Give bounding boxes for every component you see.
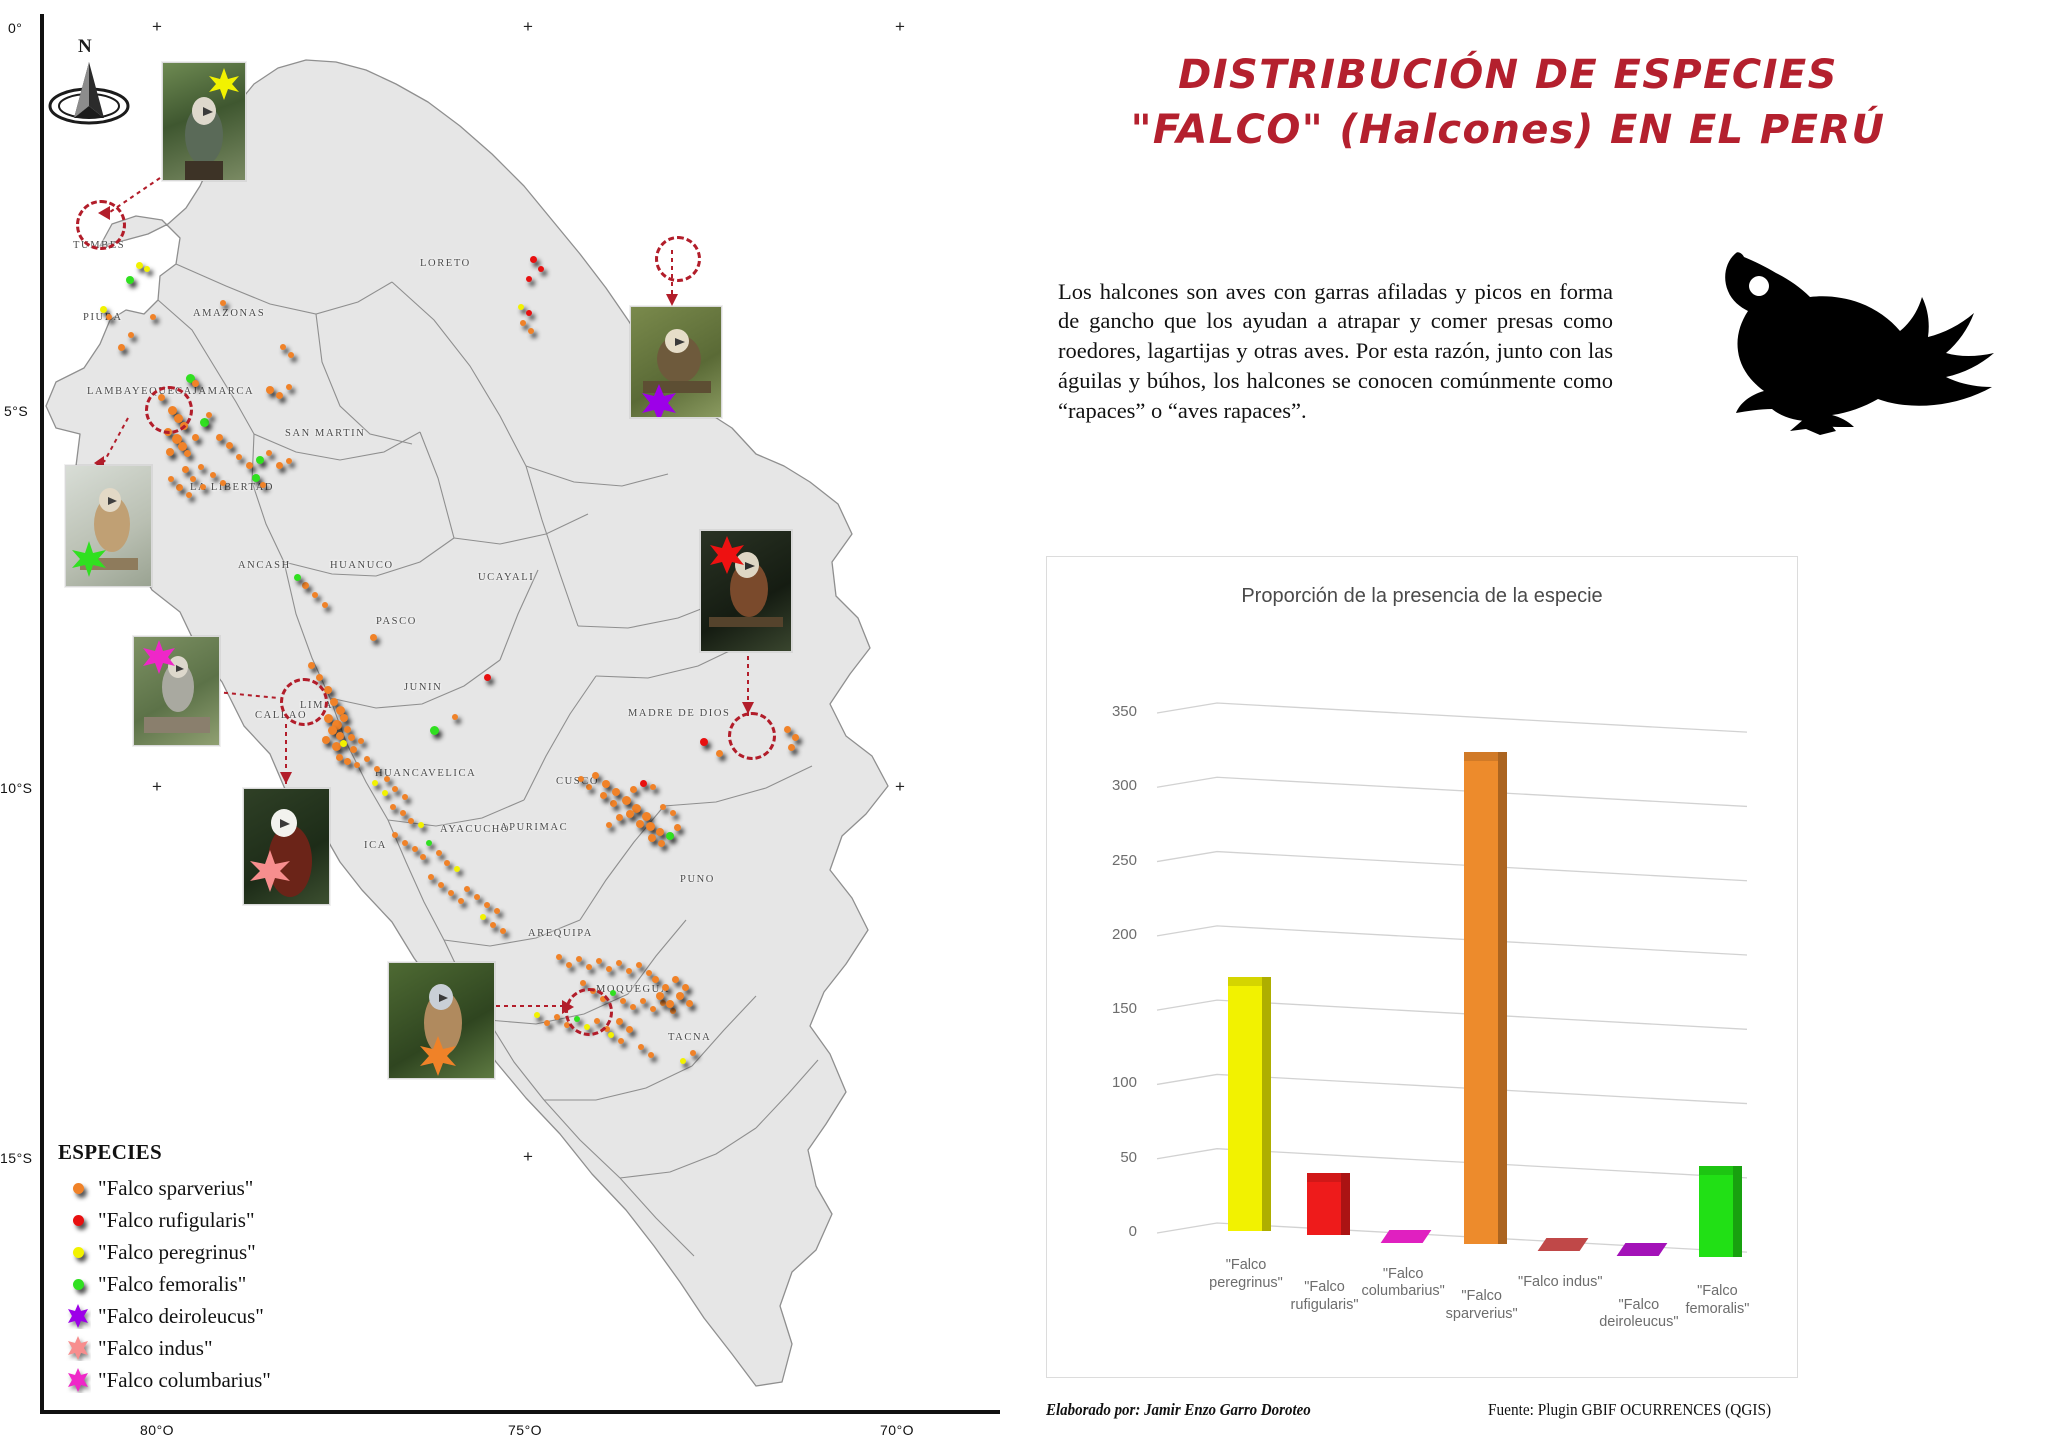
footer-source: Fuente: Plugin GBIF OCURRENCES (QGIS) [1488, 1400, 1771, 1420]
occurrence-dot [336, 754, 343, 761]
legend-dot-icon [73, 1183, 84, 1194]
occurrence-dot [418, 822, 424, 828]
occurrence-dot [576, 956, 582, 962]
occurrence-dot [622, 796, 631, 805]
legend-label-5: "Falco indus" [98, 1336, 213, 1361]
occurrence-dot [444, 860, 450, 866]
occurrence-dot [626, 968, 632, 974]
chart-plot-area: 050100150200250300350"Falco peregrinus""… [1047, 557, 1797, 1377]
legend-heading: ESPECIES [58, 1140, 358, 1165]
occurrence-dot [670, 810, 676, 816]
occurrence-dot [126, 276, 134, 284]
occurrence-dot [616, 814, 623, 821]
occurrence-dot [100, 306, 107, 313]
occurrence-dot [586, 784, 592, 790]
occurrence-dot [534, 1012, 540, 1018]
bar-top [1464, 752, 1498, 761]
occurrence-dot [370, 634, 377, 641]
region-label-tacna: TACNA [668, 1032, 711, 1043]
legend-label-2: "Falco peregrinus" [98, 1240, 256, 1265]
occurrence-dot [408, 818, 414, 824]
occurrence-dot [526, 310, 532, 316]
bar-body [1228, 986, 1262, 1231]
legend-label-3: "Falco femoralis" [98, 1272, 246, 1297]
occurrence-dot [266, 450, 272, 456]
lat-label-3: 15°S [0, 1150, 33, 1166]
photo-falco-rufigularis [700, 530, 792, 652]
occurrence-dot [792, 734, 799, 741]
occurrence-dot [606, 822, 612, 828]
occurrence-dot [190, 476, 196, 482]
occurrence-dot [616, 1018, 623, 1025]
legend-label-1: "Falco rufigularis" [98, 1208, 255, 1233]
occurrence-dot [420, 854, 426, 860]
footer-author: Elaborado por: Jamir Enzo Garro Doroteo [1046, 1400, 1311, 1420]
legend-item-2: "Falco peregrinus" [58, 1236, 358, 1268]
occurrence-dot [620, 998, 626, 1004]
occurrence-dot [716, 750, 723, 757]
legend-item-5: "Falco indus" [58, 1332, 358, 1364]
occurrence-dot [650, 1006, 656, 1012]
page-title: DISTRIBUCIÓN DE ESPECIES "FALCO" (Halcon… [1058, 48, 1958, 158]
occurrence-dot [636, 962, 642, 968]
occurrence-dot [592, 772, 599, 779]
occurrence-dot [312, 592, 318, 598]
occurrence-dot [246, 462, 253, 469]
occurrence-dot [484, 674, 491, 681]
photo-falco-sparverius [65, 465, 152, 587]
legend-label-0: "Falco sparverius" [98, 1176, 253, 1201]
occurrence-dot [340, 740, 347, 747]
region-label-huanuco: HUANUCO [330, 560, 394, 571]
occurrence-dot [438, 882, 444, 888]
region-label-pasco: PASCO [376, 616, 417, 627]
lat-label-2: 10°S [0, 780, 33, 796]
occurrence-dot [236, 454, 242, 460]
occurrence-dot [666, 832, 674, 840]
occurrence-dot [606, 966, 612, 972]
occurrence-dot [210, 472, 216, 478]
legend-item-0: "Falco sparverius" [58, 1172, 358, 1204]
bar-flat-marker [1381, 1230, 1432, 1243]
occurrence-dot [266, 386, 274, 394]
occurrence-dot [372, 780, 378, 786]
species-star-femoralis [70, 540, 108, 583]
occurrence-dot [186, 492, 192, 498]
legend-symbol-6 [58, 1367, 98, 1393]
bar-face [1307, 1182, 1341, 1235]
occurrence-dot [392, 786, 398, 792]
legend-star-icon [65, 1367, 91, 1393]
occurrence-dot [674, 824, 681, 831]
bar-face [1228, 986, 1262, 1231]
highlight-circle-lima [280, 678, 328, 726]
occurrence-dot [322, 736, 330, 744]
legend-dot-icon [73, 1247, 84, 1258]
region-label-puno: PUNO [680, 874, 715, 885]
falcon-silhouette-icon [1678, 225, 2008, 445]
occurrence-dot [656, 828, 664, 836]
occurrence-dot [428, 874, 434, 880]
occurrence-dot [136, 262, 143, 269]
occurrence-dot [260, 482, 266, 488]
species-proportion-chart: Proporción de la presencia de la especie… [1046, 556, 1798, 1378]
occurrence-dot [544, 1020, 550, 1026]
occurrence-dot [280, 344, 286, 350]
legend-star-icon [65, 1335, 91, 1361]
occurrence-dot [200, 484, 206, 490]
occurrence-dot [686, 1000, 693, 1007]
map-panel: 0° 5°S 10°S 15°S 80°O 75°O 70°O + + + + … [0, 0, 1028, 1448]
highlight-circle-lambayeque [145, 386, 193, 434]
occurrence-dot [316, 674, 323, 681]
occurrence-dot [700, 738, 708, 746]
highlight-circle-tumbes [76, 200, 126, 250]
occurrence-dot [166, 448, 174, 456]
occurrence-dot [430, 726, 439, 735]
region-label-madre-de-dios: MADRE DE DIOS [628, 708, 730, 719]
region-label-loreto: LORETO [420, 258, 471, 269]
occurrence-dot [610, 800, 617, 807]
legend-symbol-1 [58, 1215, 98, 1226]
occurrence-dot [452, 714, 458, 720]
photo-falco-peregrinus [162, 62, 246, 181]
occurrence-dot [350, 746, 357, 753]
occurrence-dot [648, 1052, 654, 1058]
occurrence-dot [662, 984, 669, 991]
occurrence-dot [610, 990, 616, 996]
legend-label-4: "Falco deiroleucus" [98, 1304, 264, 1329]
occurrence-dot [106, 314, 112, 320]
highlight-circle-madre-de-dios [728, 712, 776, 760]
region-label-apurimac: APURIMAC [500, 822, 568, 833]
occurrence-dot [464, 886, 470, 892]
occurrence-dot [578, 776, 584, 782]
occurrence-dot [286, 458, 292, 464]
occurrence-dot [302, 582, 309, 589]
bar-side [1262, 977, 1271, 1231]
legend-item-1: "Falco rufigularis" [58, 1204, 358, 1236]
occurrence-dot [658, 840, 665, 847]
occurrence-dot [390, 804, 396, 810]
bar-side [1341, 1173, 1350, 1235]
legend-item-4: "Falco deiroleucus" [58, 1300, 358, 1332]
legend-dot-icon [73, 1279, 84, 1290]
legend-label-6: "Falco columbarius" [98, 1368, 271, 1393]
region-label-san-martin: SAN MARTIN [285, 428, 365, 439]
occurrence-dot [198, 464, 204, 470]
bar-face [1699, 1175, 1733, 1257]
legend-rows: "Falco sparverius""Falco rufigularis""Fa… [58, 1172, 358, 1396]
photo-falco-sparverius-south [388, 962, 495, 1079]
occurrence-dot [672, 976, 679, 983]
occurrence-dot [682, 984, 689, 991]
occurrence-dot [340, 714, 348, 722]
bar-top [1699, 1166, 1733, 1175]
occurrence-dot [426, 840, 432, 846]
occurrence-dot [384, 776, 390, 782]
species-star-columbarius [141, 639, 177, 680]
region-label-piura: PIURA [83, 312, 123, 323]
occurrence-dot [412, 846, 418, 852]
intro-paragraph: Los halcones son aves con garras afilada… [1058, 277, 1613, 427]
occurrence-dot [648, 834, 656, 842]
bar-top [1228, 977, 1262, 986]
occurrence-dot [784, 726, 791, 733]
occurrence-dot [480, 914, 486, 920]
region-label-arequipa: AREQUIPA [528, 928, 593, 939]
occurrence-dot [118, 344, 125, 351]
occurrence-dot [646, 970, 652, 976]
legend-item-6: "Falco columbarius" [58, 1364, 358, 1396]
chart-gridlines [1047, 557, 1797, 1377]
lon-label-0: 80°O [140, 1422, 174, 1438]
occurrence-dot [256, 456, 264, 464]
occurrence-dot [586, 964, 592, 970]
bar-top [1307, 1173, 1341, 1182]
occurrence-dot [200, 418, 209, 427]
occurrence-dot [518, 304, 524, 310]
occurrence-dot [538, 266, 544, 272]
occurrence-dot [192, 380, 199, 387]
legend-dot-icon [73, 1215, 84, 1226]
occurrence-dot [494, 908, 500, 914]
occurrence-dot [626, 810, 634, 818]
bar-flat-marker [1616, 1243, 1667, 1256]
occurrence-dot [128, 332, 134, 338]
occurrence-dot [336, 732, 344, 740]
species-star-sparverius [417, 1035, 459, 1079]
legend-item-3: "Falco femoralis" [58, 1268, 358, 1300]
bar-body [1699, 1175, 1733, 1257]
occurrence-dot [276, 392, 283, 399]
species-star-indus [248, 849, 292, 898]
occurrence-dot [580, 980, 586, 986]
legend-symbol-5 [58, 1335, 98, 1361]
occurrence-dot [652, 976, 659, 983]
occurrence-dot [294, 574, 301, 581]
lat-label-1: 5°S [4, 403, 28, 419]
occurrence-dot [616, 960, 622, 966]
bar-body [1464, 761, 1498, 1244]
occurrence-dot [220, 300, 226, 306]
occurrence-dot [144, 266, 150, 272]
species-star-peregrinus [207, 67, 241, 106]
occurrence-dot [554, 1014, 560, 1020]
occurrence-dot [176, 484, 183, 491]
legend-symbol-3 [58, 1279, 98, 1290]
occurrence-dot [286, 384, 292, 390]
legend-symbol-4 [58, 1303, 98, 1329]
occurrence-dot [626, 1026, 633, 1033]
occurrence-dot [788, 744, 795, 751]
chart-xtick-4: "Falco indus" [1512, 1274, 1608, 1292]
occurrence-dot [640, 998, 646, 1004]
occurrence-dot [690, 1050, 696, 1056]
title-line-1: DISTRIBUCIÓN DE ESPECIES [1058, 48, 1958, 103]
chart-xtick-3: "Falco sparverius" [1434, 1288, 1530, 1323]
occurrence-dot [184, 450, 191, 457]
occurrence-dot [182, 466, 189, 473]
highlight-circle-moquegua [565, 988, 613, 1036]
occurrence-dot [364, 756, 370, 762]
occurrence-dot [636, 820, 644, 828]
occurrence-dot [206, 412, 212, 418]
occurrence-dot [322, 602, 328, 608]
occurrence-dot [220, 480, 226, 486]
right-panel: DISTRIBUCIÓN DE ESPECIES "FALCO" (Halcon… [1028, 0, 2048, 1448]
occurrence-dot [670, 1008, 676, 1014]
lon-label-2: 70°O [880, 1422, 914, 1438]
occurrence-dot [150, 314, 156, 320]
region-label-ucayali: UCAYALI [478, 572, 534, 583]
title-line-2: "FALCO" (Halcones) EN EL PERÚ [1058, 103, 1958, 158]
occurrence-dot [602, 780, 610, 788]
occurrence-dot [638, 1044, 644, 1050]
occurrence-dot [600, 792, 607, 799]
occurrence-dot [676, 992, 684, 1000]
occurrence-dot [344, 726, 351, 733]
occurrence-dot [596, 958, 602, 964]
map-legend: ESPECIES "Falco sparverius""Falco rufigu… [58, 1140, 358, 1396]
occurrence-dot [436, 850, 442, 856]
species-star-deiroleucus [639, 383, 679, 418]
occurrence-dot [612, 788, 620, 796]
region-label-huancavelica: HUANCAVELICA [375, 768, 476, 779]
occurrence-dot [400, 810, 406, 816]
photo-falco-columbarius [133, 636, 220, 746]
legend-star-icon [65, 1303, 91, 1329]
bar-side [1498, 752, 1507, 1244]
occurrence-dot [354, 762, 360, 768]
occurrence-dot [276, 462, 283, 469]
region-label-junin: JUNIN [404, 682, 442, 693]
photo-falco-deiroleucus [630, 306, 722, 418]
occurrence-dot [454, 866, 460, 872]
region-label-ancash: ANCASH [238, 560, 291, 571]
occurrence-dot [646, 822, 655, 831]
occurrence-dot [458, 898, 464, 904]
occurrence-dot [566, 962, 572, 968]
occurrence-dot [348, 734, 355, 741]
highlight-circle-loreto [655, 236, 701, 282]
occurrence-dot [666, 1000, 674, 1008]
lon-label-1: 75°O [508, 1422, 542, 1438]
occurrence-dot [382, 790, 388, 796]
bar-body [1307, 1182, 1341, 1235]
photo-falco-indus [243, 788, 330, 905]
occurrence-dot [330, 698, 338, 706]
occurrence-dot [192, 434, 199, 441]
legend-symbol-0 [58, 1183, 98, 1194]
occurrence-dot [500, 928, 506, 934]
species-star-rufigularis [707, 535, 747, 580]
occurrence-dot [660, 804, 666, 810]
bar-side [1733, 1166, 1742, 1257]
occurrence-dot [402, 840, 408, 846]
legend-symbol-2 [58, 1247, 98, 1258]
occurrence-dot [556, 954, 562, 960]
occurrence-dot [490, 922, 496, 928]
occurrence-dot [392, 832, 398, 838]
occurrence-dot [252, 474, 260, 482]
occurrence-dot [640, 780, 647, 787]
occurrence-dot [448, 890, 454, 896]
occurrence-dot [474, 894, 480, 900]
occurrence-dot [520, 320, 526, 326]
occurrence-dot [168, 476, 174, 482]
occurrence-dot [216, 434, 223, 441]
occurrence-dot [608, 1032, 614, 1038]
bar-face [1464, 761, 1498, 1244]
occurrence-dot [680, 1058, 686, 1064]
occurrence-dot [630, 1004, 636, 1010]
occurrence-dot [344, 758, 351, 765]
chart-xtick-6: "Falco femoralis" [1669, 1283, 1765, 1318]
occurrence-dot [642, 812, 651, 821]
occurrence-dot [526, 276, 532, 282]
occurrence-dot [226, 442, 233, 449]
region-label-ica: ICA [364, 840, 387, 851]
occurrence-dot [288, 352, 294, 358]
occurrence-dot [484, 902, 490, 908]
occurrence-dot [530, 256, 537, 263]
occurrence-dot [656, 992, 664, 1000]
region-label-amazonas: AMAZONAS [193, 308, 265, 319]
occurrence-dot [402, 794, 408, 800]
lat-label-0: 0° [8, 20, 22, 36]
occurrence-dot [630, 786, 637, 793]
occurrence-dot [618, 1038, 624, 1044]
occurrence-dot [308, 662, 315, 669]
occurrence-dot [374, 766, 380, 772]
occurrence-dot [358, 738, 364, 744]
occurrence-dot [650, 784, 656, 790]
occurrence-dot [528, 328, 534, 334]
